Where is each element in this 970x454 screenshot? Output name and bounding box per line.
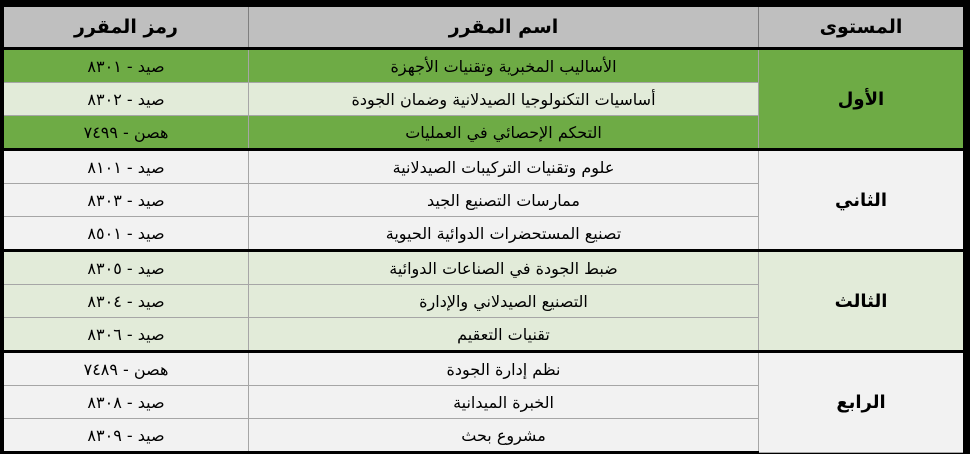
course-code-cell: هصن - ٧٤٩٩ [3, 116, 249, 150]
course-code-cell: صيد - ٨٣٠٨ [3, 386, 249, 419]
course-name-cell: الخبرة الميدانية [249, 386, 759, 419]
course-table-frame: المستوى اسم المقرر رمز المقرر الأولالأسا… [0, 0, 970, 442]
header-level: المستوى [759, 6, 965, 49]
course-name-cell: الأساليب المخبرية وتقنيات الأجهزة [249, 49, 759, 83]
course-code-cell: صيد - ٨٣٠١ [3, 49, 249, 83]
course-code-cell: صيد - ٨١٠١ [3, 150, 249, 184]
course-code-cell: صيد - ٨٣٠٤ [3, 285, 249, 318]
course-name-cell: التحكم الإحصائي في العمليات [249, 116, 759, 150]
course-name-cell: تقنيات التعقيم [249, 318, 759, 352]
course-code-cell: صيد - ٨٣٠٥ [3, 251, 249, 285]
course-name-cell: مشروع بحث [249, 419, 759, 453]
course-code-cell: صيد - ٨٣٠٢ [3, 83, 249, 116]
course-name-cell: علوم وتقنيات التركيبات الصيدلانية [249, 150, 759, 184]
level-cell-4: الرابع [759, 352, 965, 453]
course-table: المستوى اسم المقرر رمز المقرر الأولالأسا… [1, 4, 966, 454]
header-course-name: اسم المقرر [249, 6, 759, 49]
course-name-cell: ضبط الجودة في الصناعات الدوائية [249, 251, 759, 285]
table-row: الثانيعلوم وتقنيات التركيبات الصيدلانيةص… [3, 150, 965, 184]
table-row: الرابعنظم إدارة الجودةهصن - ٧٤٨٩ [3, 352, 965, 386]
level-cell-1: الأول [759, 49, 965, 150]
table-row: الأولالأساليب المخبرية وتقنيات الأجهزةصي… [3, 49, 965, 83]
course-name-cell: التصنيع الصيدلاني والإدارة [249, 285, 759, 318]
course-name-cell: نظم إدارة الجودة [249, 352, 759, 386]
course-code-cell: صيد - ٨٥٠١ [3, 217, 249, 251]
header-course-code: رمز المقرر [3, 6, 249, 49]
course-code-cell: صيد - ٨٣٠٩ [3, 419, 249, 453]
level-cell-2: الثاني [759, 150, 965, 251]
table-body: الأولالأساليب المخبرية وتقنيات الأجهزةصي… [3, 49, 965, 453]
course-code-cell: صيد - ٨٣٠٦ [3, 318, 249, 352]
course-name-cell: ممارسات التصنيع الجيد [249, 184, 759, 217]
course-code-cell: هصن - ٧٤٨٩ [3, 352, 249, 386]
course-code-cell: صيد - ٨٣٠٣ [3, 184, 249, 217]
table-header: المستوى اسم المقرر رمز المقرر [3, 6, 965, 49]
header-row: المستوى اسم المقرر رمز المقرر [3, 6, 965, 49]
level-cell-3: الثالث [759, 251, 965, 352]
course-name-cell: أساسيات التكنولوجيا الصيدلانية وضمان الج… [249, 83, 759, 116]
table-row: الثالثضبط الجودة في الصناعات الدوائيةصيد… [3, 251, 965, 285]
course-name-cell: تصنيع المستحضرات الدوائية الحيوية [249, 217, 759, 251]
